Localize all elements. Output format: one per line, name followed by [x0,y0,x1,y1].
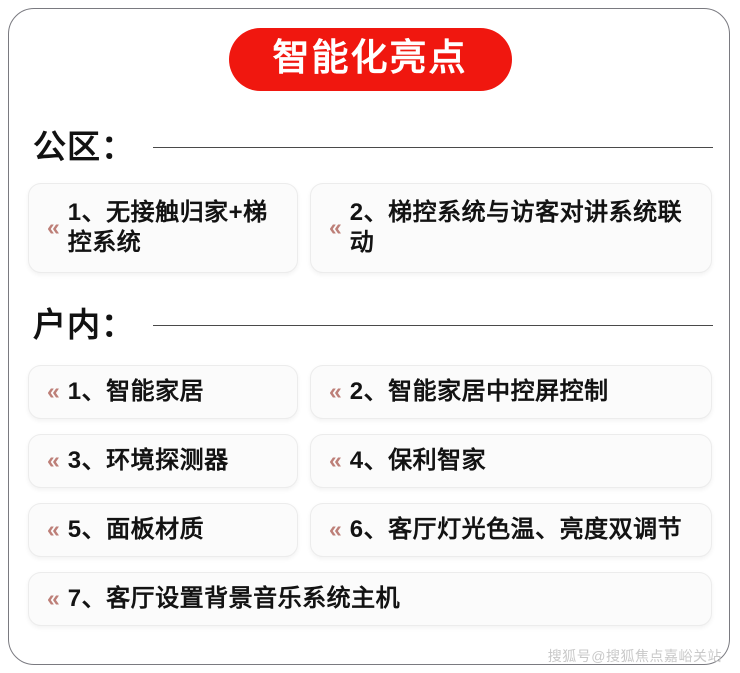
title-area: 智能化亮点 [0,28,740,91]
list-item-label: 2、智能家居中控屏控制 [350,377,609,407]
poster-content: 智能化亮点 公区： « 1、无接触归家+梯控系统 « 2、梯控系统与访客对讲系统… [0,0,740,673]
list-item[interactable]: « 2、智能家居中控屏控制 [310,365,712,419]
double-chevron-left-icon: « [47,587,57,610]
watermark: 搜狐号@搜狐焦点嘉峪关站 [548,646,722,666]
list-item-label: 3、环境探测器 [68,446,229,476]
list-item[interactable]: « 3、环境探测器 [28,434,298,488]
section-heading-indoor: 户内： [33,298,713,346]
double-chevron-left-icon: « [47,380,57,403]
list-item-label: 6、客厅灯光色温、亮度双调节 [350,515,682,545]
list-item-label: 7、客厅设置背景音乐系统主机 [68,584,400,614]
list-item-label: 2、梯控系统与访客对讲系统联动 [350,198,701,258]
list-item[interactable]: « 2、梯控系统与访客对讲系统联动 [310,183,712,273]
list-item[interactable]: « 1、无接触归家+梯控系统 [28,183,298,273]
section-heading-label: 户内： [33,298,135,346]
list-item[interactable]: « 5、面板材质 [28,503,298,557]
list-item-label: 5、面板材质 [68,515,204,545]
list-item[interactable]: « 4、保利智家 [310,434,712,488]
double-chevron-left-icon: « [47,216,57,239]
double-chevron-left-icon: « [47,449,57,472]
double-chevron-left-icon: « [47,518,57,541]
list-item-label: 1、无接触归家+梯控系统 [68,198,287,258]
list-item[interactable]: « 6、客厅灯光色温、亮度双调节 [310,503,712,557]
section-divider-line [153,325,713,326]
section-heading-public-area: 公区： [33,120,713,168]
list-item-label: 1、智能家居 [68,377,204,407]
double-chevron-left-icon: « [329,380,339,403]
double-chevron-left-icon: « [329,518,339,541]
page-title-badge: 智能化亮点 [229,28,512,91]
double-chevron-left-icon: « [329,216,339,239]
double-chevron-left-icon: « [329,449,339,472]
list-item-label: 4、保利智家 [350,446,486,476]
list-item[interactable]: « 1、智能家居 [28,365,298,419]
list-item[interactable]: « 7、客厅设置背景音乐系统主机 [28,572,712,626]
section-divider-line [153,147,713,148]
section-heading-label: 公区： [33,120,135,168]
